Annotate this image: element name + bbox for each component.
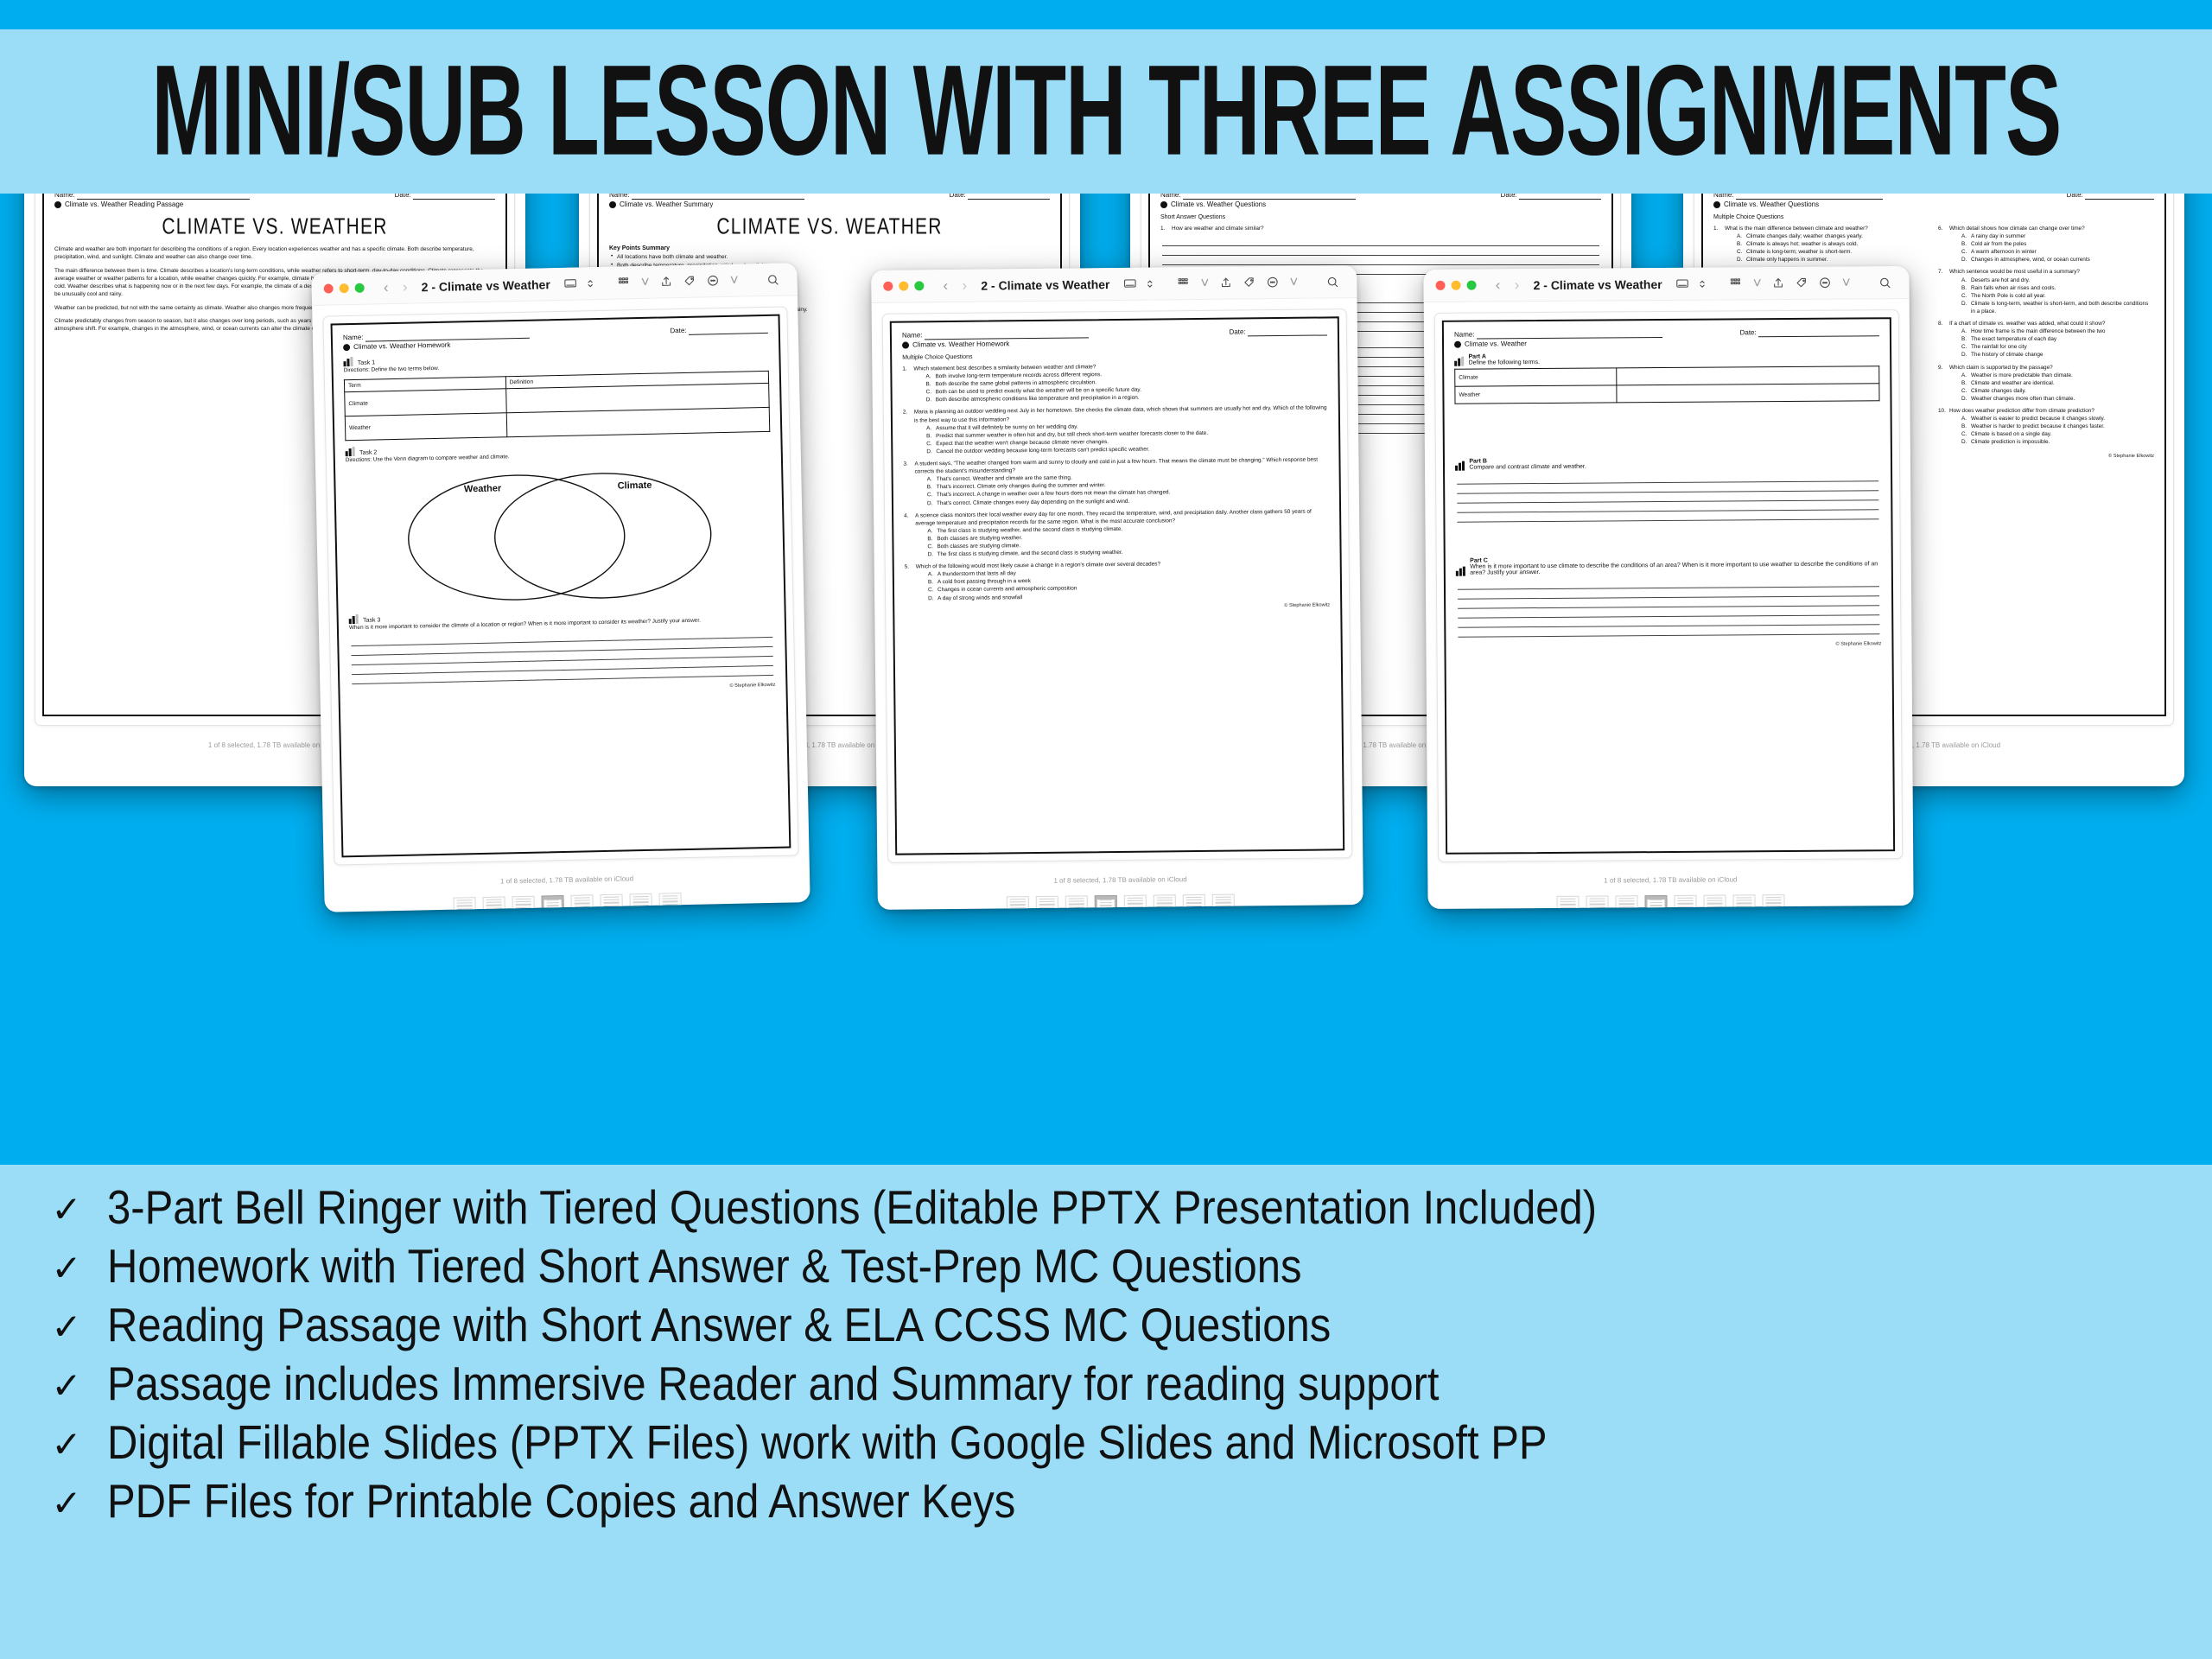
group-by-icon	[1730, 276, 1743, 289]
choice-text: Climate changes daily.	[1971, 387, 2026, 395]
choice-letter: C.	[1737, 248, 1746, 256]
choice-text: The exact temperature of each day	[1971, 335, 2056, 343]
view-stepper-icon[interactable]	[588, 277, 594, 289]
question-item: 1.How are weather and climate similar?	[1160, 225, 1601, 232]
choice-text: The North Pole is cold all year.	[1971, 292, 2046, 300]
key-point-item: All locations have both climate and weat…	[609, 253, 1050, 262]
worksheet-subtitle-text: Climate vs. Weather Homework	[353, 341, 450, 351]
thumbnail-6[interactable]	[1154, 894, 1176, 910]
spacer	[1455, 401, 1880, 452]
thumbnail-2[interactable]	[1036, 896, 1058, 910]
bullet-dot-icon	[1713, 201, 1720, 208]
window-title: 2 - Climate vs Weather	[981, 277, 1109, 293]
question-text: Which sentence would be most useful in a…	[1949, 268, 2154, 276]
feature-item-6: ✓PDF Files for Printable Copies and Answ…	[48, 1478, 2164, 1526]
choice-item[interactable]: D.Climate prediction is impossible.	[1961, 438, 2154, 446]
choice-letter: D.	[926, 397, 936, 404]
choice-item[interactable]: C.Climate is long-term; weather is short…	[1737, 248, 1929, 256]
thumbnail-5[interactable]	[570, 894, 594, 912]
choice-item[interactable]: A.How time frame is the main difference …	[1961, 327, 2154, 335]
close-button[interactable]	[324, 283, 334, 293]
choice-letter: C.	[927, 492, 937, 499]
choice-letter: A.	[1961, 232, 1971, 240]
name-field[interactable]: Name:	[1713, 194, 1883, 200]
choice-list: A.Weather is easier to predict because i…	[1961, 415, 2154, 446]
question-body: Which detail shows how climate can chang…	[1949, 225, 2154, 264]
choice-item[interactable]: B.Weather is harder to predict because i…	[1961, 423, 2154, 430]
choice-letter: C.	[928, 587, 938, 594]
choice-text: Weather is harder to predict because it …	[1971, 423, 2105, 430]
date-field[interactable]: Date:	[1501, 194, 1601, 200]
question-item: 10.How does weather prediction differ fr…	[1938, 407, 2154, 446]
choice-item[interactable]: C.A warm afternoon in winter	[1961, 248, 2154, 256]
choice-text: Climate is always hot; weather is always…	[1746, 240, 1858, 248]
choice-item[interactable]: C.The rainfall for one city	[1961, 343, 2154, 351]
question-number: 1.	[1160, 225, 1172, 232]
partC-text-block: Part CWhen is it more important to use c…	[1470, 555, 1881, 575]
bar-chart-icon	[1454, 357, 1464, 366]
question-item: 2.Maria is planning an outdoor wedding n…	[903, 404, 1329, 456]
tag-icon	[1243, 276, 1255, 289]
name-date-row: Name: Date:	[609, 194, 1050, 200]
bullet-dot-icon	[902, 341, 909, 348]
question-text: Which claim is supported by the passage?	[1949, 364, 2154, 372]
thumbnail-5[interactable]	[1674, 895, 1696, 909]
finder-window-homework-mc[interactable]: ‹›2 - Climate vs Weather˅˅Name: Date: Cl…	[871, 265, 1363, 910]
question-body: What is the main difference between clim…	[1725, 225, 1929, 264]
table-cell-term: Weather	[345, 413, 506, 441]
date-field[interactable]: Date:	[2067, 194, 2154, 200]
question-body: How are weather and climate similar?	[1172, 225, 1601, 232]
finder-window-bell-ringer[interactable]: ‹›2 - Climate vs Weather˅˅Name: Date: Cl…	[1423, 266, 1913, 909]
chevron-down-icon-2[interactable]: ˅	[725, 271, 744, 289]
choice-text: Weather is easier to predict because it …	[1971, 415, 2105, 423]
copyright-text: © Stephanie Elkowitz	[905, 602, 1330, 612]
partC-answer-lines[interactable]	[1458, 577, 1879, 637]
titlebar-right	[760, 272, 785, 287]
document-sheet: Name: Date: Climate vs. Weather Homework…	[322, 306, 798, 865]
choice-text: Deserts are hot and dry.	[1971, 276, 2030, 284]
worksheet-subtitle: Climate vs. Weather Summary	[609, 200, 1050, 208]
question-number: 1.	[1713, 225, 1725, 264]
name-field[interactable]: Name:	[54, 194, 250, 200]
question-body: A student says, "The weather changed fro…	[914, 455, 1329, 507]
thumbnail-8[interactable]	[1762, 894, 1784, 909]
maximize-button[interactable]	[914, 281, 924, 290]
thumbnail-2[interactable]	[482, 896, 505, 912]
close-button[interactable]	[883, 282, 893, 291]
choice-letter: B.	[1961, 240, 1971, 248]
document-sheet: Name: Date: Climate vs. Weather Homework…	[882, 308, 1353, 863]
partC-header: Part CWhen is it more important to use c…	[1456, 555, 1881, 575]
section-heading: Multiple Choice Questions	[902, 350, 1327, 360]
question-text: If a chart of climate vs. weather was ad…	[1949, 320, 2154, 327]
worksheet-subtitle-text: Climate vs. Weather Homework	[912, 340, 1009, 348]
thumbnail-3[interactable]	[1615, 895, 1637, 909]
choice-letter: D.	[1961, 300, 1971, 315]
feature-list: ✓3-Part Bell Ringer with Tiered Question…	[0, 1165, 2212, 1659]
choice-item[interactable]: A.Weather is easier to predict because i…	[1961, 415, 2154, 423]
bullet-dot-icon	[1454, 340, 1461, 347]
choice-item[interactable]: D.Climate is long-term, weather is short…	[1961, 300, 2154, 315]
question-body: Maria is planning an outdoor wedding nex…	[914, 404, 1329, 456]
thumbnail-8[interactable]	[1212, 894, 1235, 910]
table-cell-term: Weather	[1455, 385, 1617, 404]
choice-item[interactable]: C.The North Pole is cold all year.	[1961, 292, 2154, 300]
choice-letter: B.	[1961, 284, 1971, 292]
mc-column-right: 6.Which detail shows how climate can cha…	[1938, 225, 2154, 450]
thumbnail-4[interactable]	[1644, 895, 1667, 909]
choice-letter: B.	[1961, 379, 1971, 387]
choice-item[interactable]: D.Weather changes more often than climat…	[1961, 395, 2154, 403]
forward-chevron-icon[interactable]: ›	[955, 276, 974, 294]
choice-list: A.A rainy day in summerB.Cold air from t…	[1961, 232, 2154, 264]
choice-letter: C.	[1961, 292, 1971, 300]
worksheet-subtitle-text: Climate vs. Weather Questions	[1171, 200, 1266, 208]
choice-text: Climate is based on a single day.	[1971, 430, 2051, 438]
bar-chart-icon	[1456, 567, 1465, 576]
window-controls[interactable]	[883, 281, 924, 290]
question-text: What is the main difference between clim…	[1725, 225, 1929, 232]
question-item: 4.A science class monitors their local w…	[904, 507, 1330, 559]
question-item: 5.Which of the following would most like…	[905, 559, 1330, 603]
thumbnail-6[interactable]	[1703, 895, 1726, 909]
choice-text: Cold air from the poles	[1971, 240, 2026, 248]
choice-text: A day of strong winds and snowfall	[938, 594, 1022, 602]
answer-lines[interactable]	[351, 628, 773, 684]
minimize-button[interactable]	[340, 283, 349, 293]
close-button[interactable]	[1436, 281, 1446, 290]
choice-item[interactable]: B.The exact temperature of each day	[1961, 335, 2154, 343]
document-sheet: Name: Date: Climate vs. WeatherPart ADef…	[1434, 309, 1903, 862]
choice-text: A rainy day in summer	[1971, 232, 2025, 240]
more-icon	[1266, 276, 1279, 289]
choice-item[interactable]: B.Rain falls when air rises and cools.	[1961, 284, 2154, 292]
choice-letter: C.	[1961, 387, 1971, 395]
choice-text: Climate and weather are identical.	[1971, 379, 2055, 387]
choice-letter: A.	[1961, 276, 1971, 284]
window-controls[interactable]	[324, 283, 365, 294]
choice-letter: A.	[1961, 327, 1971, 335]
partB-header: Part BCompare and contrast climate and w…	[1455, 455, 1880, 470]
choice-letter: C.	[927, 543, 937, 550]
term-table: ClimateWeather	[1454, 365, 1879, 404]
minimize-button[interactable]	[899, 282, 908, 291]
question-body: A science class monitors their local wea…	[915, 507, 1330, 559]
question-item: 1.Which statement best describes a simil…	[902, 360, 1327, 404]
question-item: 1.What is the main difference between cl…	[1713, 225, 1929, 264]
answer-line[interactable]	[1162, 246, 1599, 256]
minimize-button[interactable]	[1452, 281, 1461, 290]
bullet-dot-icon	[54, 201, 61, 208]
choice-text: Climate is long-term; weather is short-t…	[1746, 248, 1852, 256]
choice-letter: D.	[1737, 256, 1746, 264]
choice-letter: B.	[925, 380, 935, 388]
name-field[interactable]: Name:	[1454, 329, 1662, 340]
choice-letter: D.	[1961, 256, 1971, 264]
search-icon	[766, 272, 779, 286]
back-chevron-icon[interactable]: ‹	[376, 278, 395, 296]
feature-item-2: ✓Homework with Tiered Short Answer & Tes…	[48, 1243, 2164, 1291]
feature-text: Homework with Tiered Short Answer & Test…	[107, 1240, 1302, 1294]
choice-letter: B.	[928, 579, 938, 587]
choice-text: How time frame is the main difference be…	[1971, 327, 2105, 335]
choice-list: A.How time frame is the main difference …	[1961, 327, 2154, 359]
choice-list: A.Weather is more predictable than clima…	[1961, 372, 2154, 403]
date-field[interactable]: Date:	[950, 194, 1050, 200]
chevron-down-icon[interactable]: ˅	[1195, 274, 1214, 291]
document-title: CLIMATE VS. WEATHER	[54, 214, 495, 240]
choice-item[interactable]: B.Cold air from the poles	[1961, 240, 2154, 248]
choice-item[interactable]: D.Climate only happens in summer.	[1737, 256, 1929, 264]
titlebar-right	[1872, 276, 1897, 289]
check-icon: ✓	[48, 1192, 85, 1228]
view-stepper-icon[interactable]	[1700, 277, 1706, 289]
more-icon	[707, 274, 720, 287]
thumbnail-1[interactable]	[453, 897, 476, 912]
maximize-button[interactable]	[1467, 281, 1477, 290]
choice-list: A.Both involve long-term temperature rec…	[925, 369, 1327, 404]
choice-item[interactable]: B.Climate is always hot; weather is alwa…	[1737, 240, 1929, 248]
question-number: 2.	[903, 409, 915, 456]
feature-item-3: ✓Reading Passage with Short Answer & ELA…	[48, 1301, 2164, 1350]
choice-text: The first class is studying climate, and…	[938, 549, 1123, 558]
choice-list: A.Assume that it will definitely be sunn…	[926, 420, 1328, 455]
worksheet-subtitle: Climate vs. Weather Questions	[1713, 200, 2154, 208]
question-number: 7.	[1938, 268, 1949, 315]
view-switch-icon	[564, 277, 577, 290]
forward-chevron-icon[interactable]: ›	[1507, 276, 1526, 294]
worksheet-subtitle-text: Climate vs. Weather Reading Passage	[65, 200, 183, 208]
date-field[interactable]: Date:	[395, 194, 495, 200]
share-icon	[1219, 276, 1232, 289]
worksheet-subtitle-text: Climate vs. Weather Summary	[620, 200, 713, 208]
choice-letter: A.	[925, 372, 935, 380]
share-icon	[1772, 276, 1785, 289]
chevron-down-icon-2[interactable]: ˅	[1284, 273, 1303, 290]
question-number: 8.	[1938, 320, 1949, 359]
choice-item[interactable]: A.Weather is more predictable than clima…	[1961, 372, 2154, 379]
choice-letter: D.	[1961, 395, 1971, 403]
spacer-2	[1456, 526, 1881, 551]
choice-text: Changes in atmosphere, wind, or ocean cu…	[1971, 256, 2090, 264]
answer-line[interactable]	[1457, 510, 1878, 522]
section-heading: Multiple Choice Questions	[1713, 214, 2154, 220]
forward-chevron-icon[interactable]: ›	[395, 278, 414, 296]
table-cell-definition[interactable]	[1616, 384, 1879, 403]
question-text: How are weather and climate similar?	[1172, 225, 1601, 232]
view-stepper-icon[interactable]	[1147, 277, 1153, 289]
question-number: 5.	[905, 563, 916, 603]
worksheet-page: Name: Date: Climate vs. WeatherPart ADef…	[1442, 317, 1895, 855]
choice-list: A.A thunderstorm that lasts all dayB.A c…	[928, 567, 1330, 602]
thumbnail-2[interactable]	[1586, 895, 1608, 908]
table-cell-term: Climate	[1455, 368, 1617, 386]
choice-letter: D.	[926, 448, 936, 455]
document-title: CLIMATE VS. WEATHER	[609, 214, 1050, 240]
check-icon: ✓	[48, 1309, 85, 1345]
choice-text: That's correct. Climate changes every da…	[937, 497, 1129, 506]
choice-text: Climate prediction is impossible.	[1971, 438, 2050, 446]
maximize-button[interactable]	[355, 283, 365, 293]
choice-text: Weather changes more often than climate.	[1971, 395, 2075, 403]
thumbnail-3[interactable]	[512, 896, 535, 912]
choice-letter: B.	[927, 535, 937, 543]
choice-text: The rainfall for one city	[1971, 343, 2027, 351]
choice-text: Both describe atmospheric conditions lik…	[936, 394, 1140, 404]
choice-letter: B.	[1961, 423, 1971, 430]
name-date-row: Name: Date:	[1160, 194, 1601, 200]
thumbnail-1[interactable]	[1556, 896, 1579, 909]
chevron-down-icon[interactable]: ˅	[1748, 275, 1767, 292]
worksheet-subtitle: Climate vs. Weather Reading Passage	[54, 200, 495, 208]
choice-letter: A.	[1737, 232, 1746, 240]
choice-letter: B.	[1737, 240, 1746, 248]
back-chevron-icon[interactable]: ‹	[1488, 276, 1507, 294]
venn-diagram: WeatherClimate	[346, 461, 773, 607]
worksheet-subtitle-text: Climate vs. Weather Questions	[1724, 200, 1819, 208]
thumbnail-7[interactable]	[1732, 894, 1755, 909]
question-number: 9.	[1938, 364, 1949, 403]
window-title: 2 - Climate vs Weather	[422, 277, 550, 294]
choice-letter: A.	[1961, 372, 1971, 379]
date-field[interactable]: Date:	[1230, 327, 1327, 336]
choice-letter: D.	[928, 550, 938, 558]
question-item: 7.Which sentence would be most useful in…	[1938, 268, 2154, 315]
feature-text: PDF Files for Printable Copies and Answe…	[107, 1475, 1015, 1529]
choice-letter: B.	[926, 432, 936, 440]
choice-list: A.The first class is studying weather, a…	[927, 523, 1329, 558]
choice-letter: C.	[1961, 430, 1971, 438]
partB-answer-lines[interactable]	[1457, 472, 1878, 522]
check-icon: ✓	[48, 1368, 85, 1404]
choice-text: The history of climate change	[1971, 351, 2043, 359]
answer-line[interactable]	[1162, 237, 1599, 246]
view-switch-icon	[1123, 277, 1136, 290]
table-row: Weather	[1455, 384, 1879, 404]
question-body: Which of the following would most likely…	[916, 559, 1330, 602]
tag-icon	[683, 275, 696, 288]
bullet-dot-icon	[343, 344, 350, 351]
chevron-down-icon[interactable]: ˅	[636, 273, 655, 290]
choice-item[interactable]: A.Climate changes daily; weather changes…	[1737, 232, 1929, 240]
choice-item[interactable]: A.A rainy day in summer	[1961, 232, 2154, 240]
passage-paragraph: Climate and weather are both important f…	[54, 245, 495, 262]
feature-item-5: ✓Digital Fillable Slides (PPTX Files) wo…	[48, 1419, 2164, 1467]
feature-item-1: ✓3-Part Bell Ringer with Tiered Question…	[48, 1184, 2164, 1232]
thumbnail-4[interactable]	[541, 895, 564, 912]
choice-item[interactable]: D.The history of climate change	[1961, 351, 2154, 359]
choice-letter: D.	[1961, 351, 1971, 359]
choice-item[interactable]: C.Climate changes daily.	[1961, 387, 2154, 395]
feature-text: Digital Fillable Slides (PPTX Files) wor…	[107, 1416, 1548, 1471]
bullet-dot-icon	[1160, 201, 1167, 208]
choice-letter: D.	[928, 594, 938, 602]
check-icon: ✓	[48, 1250, 85, 1287]
search-icon	[1878, 276, 1891, 289]
question-body: Which sentence would be most useful in a…	[1949, 268, 2154, 315]
section-heading: Key Points Summary	[609, 245, 1050, 251]
partB-text-block: Part BCompare and contrast climate and w…	[1469, 458, 1586, 471]
choice-text: Climate only happens in summer.	[1746, 256, 1827, 264]
table-cell-term: Climate	[345, 389, 506, 416]
choice-item[interactable]: B.Climate and weather are identical.	[1961, 379, 2154, 387]
page-title: MINI/SUB LESSON WITH THREE ASSIGNMENTS	[151, 38, 2061, 186]
question-body: How does weather prediction differ from …	[1949, 407, 2154, 446]
date-field[interactable]: Date:	[1740, 327, 1879, 337]
thumbnail-8[interactable]	[658, 893, 682, 912]
choice-item[interactable]: D.Changes in atmosphere, wind, or ocean …	[1961, 256, 2154, 264]
thumbnail-7[interactable]	[629, 893, 652, 912]
choice-text: Climate is long-term, weather is short-t…	[1971, 300, 2154, 315]
choice-text: Rain falls when air rises and cools.	[1971, 284, 2056, 292]
bullet-dot-icon	[609, 201, 616, 208]
bar-chart-icon	[349, 613, 359, 623]
group-by-icon	[1177, 276, 1190, 289]
window-controls[interactable]	[1436, 281, 1477, 290]
choice-item[interactable]: A.Deserts are hot and dry.	[1961, 276, 2154, 284]
search-icon	[1325, 275, 1339, 289]
choice-list: A.Deserts are hot and dry.B.Rain falls w…	[1961, 276, 2154, 315]
thumbnail-4[interactable]	[1095, 895, 1117, 910]
thumbnail-6[interactable]	[600, 894, 623, 912]
choice-letter: B.	[1961, 335, 1971, 343]
feature-text: Reading Passage with Short Answer & ELA …	[107, 1299, 1331, 1353]
name-field[interactable]: Name:	[1160, 194, 1356, 200]
question-item: 3.A student says, "The weather changed f…	[903, 455, 1329, 507]
choice-letter: C.	[926, 388, 936, 396]
svg-text:Climate: Climate	[618, 480, 652, 491]
thumbnail-1[interactable]	[1007, 896, 1029, 910]
question-number: 6.	[1938, 225, 1949, 264]
choice-letter: D.	[1961, 438, 1971, 446]
choice-letter: C.	[1961, 248, 1971, 256]
choice-item[interactable]: C.Climate is based on a single day.	[1961, 430, 2154, 438]
name-field[interactable]: Name:	[609, 194, 804, 200]
thumbnail-7[interactable]	[1183, 894, 1205, 910]
more-icon	[1819, 276, 1832, 289]
share-icon	[660, 275, 673, 288]
choice-letter: A.	[926, 424, 936, 432]
choice-text: Climate changes daily; weather changes y…	[1746, 232, 1863, 240]
question-item: 6.Which detail shows how climate can cha…	[1938, 225, 2154, 264]
table-cell-definition[interactable]	[506, 408, 770, 437]
finder-window-homework-venn[interactable]: ‹›2 - Climate vs Weather˅˅Name: Date: Cl…	[311, 263, 810, 912]
question-text: Which detail shows how climate can chang…	[1949, 225, 2154, 232]
name-date-row: Name: Date:	[54, 194, 495, 200]
titlebar-right	[1320, 275, 1344, 289]
worksheet-subtitle: Climate vs. Weather Questions	[1160, 200, 1601, 208]
worksheet-page: Name: Date: Climate vs. Weather Homework…	[331, 315, 791, 858]
group-by-icon	[618, 276, 631, 289]
chevron-down-icon-2[interactable]: ˅	[1837, 274, 1856, 291]
choice-letter: C.	[926, 440, 936, 448]
question-body: Which statement best describes a similar…	[913, 360, 1327, 404]
choice-list: A.Climate changes daily; weather changes…	[1737, 232, 1929, 264]
thumbnail-5[interactable]	[1124, 895, 1147, 910]
table-cell-definition[interactable]	[1616, 366, 1879, 385]
back-chevron-icon[interactable]: ‹	[936, 276, 955, 294]
header-banner: MINI/SUB LESSON WITH THREE ASSIGNMENTS	[0, 29, 2212, 194]
answer-line[interactable]	[1458, 625, 1879, 637]
check-icon: ✓	[48, 1485, 85, 1522]
thumbnail-strip[interactable]	[1427, 890, 1913, 909]
partA-header: Part ADefine the following terms.	[1454, 351, 1879, 365]
bar-chart-icon	[346, 447, 356, 456]
thumbnail-3[interactable]	[1065, 895, 1088, 910]
choice-letter: B.	[927, 483, 937, 491]
answer-line[interactable]	[1162, 256, 1599, 265]
